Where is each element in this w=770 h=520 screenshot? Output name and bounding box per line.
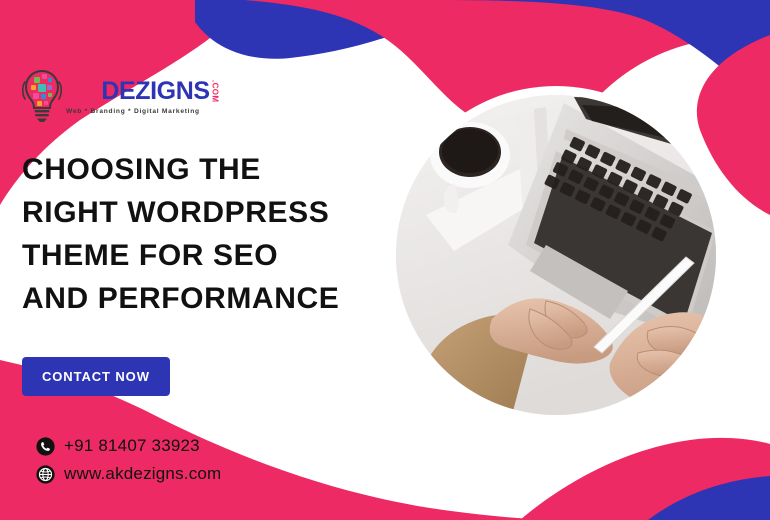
headline-line-3: THEME FOR SEO bbox=[22, 234, 382, 277]
contact-website-row[interactable]: www.akdezigns.com bbox=[36, 460, 221, 488]
lightbulb-pixels-icon bbox=[22, 68, 62, 124]
headline-line-4: AND PERFORMANCE bbox=[22, 277, 382, 320]
contact-website-text: www.akdezigns.com bbox=[64, 464, 221, 484]
contact-phone-row[interactable]: +91 81407 33923 bbox=[36, 432, 221, 460]
contact-now-button[interactable]: CONTACT NOW bbox=[22, 357, 170, 396]
laptop-hands-photo-icon bbox=[396, 95, 716, 415]
hero-photo bbox=[396, 95, 716, 415]
logo-tagline: Web * Branding * Digital Marketing bbox=[66, 108, 219, 115]
headline-line-2: RIGHT WORDPRESS bbox=[22, 191, 382, 234]
logo-wordmark: AK DEZIGNS .COM Web * Branding * Digital… bbox=[66, 68, 219, 115]
shape-right-pink bbox=[697, 35, 770, 215]
contact-info: +91 81407 33923 www.akdezigns.com bbox=[36, 432, 221, 488]
logo-word-row: AK DEZIGNS .COM bbox=[66, 79, 219, 104]
page-title: CHOOSING THE RIGHT WORDPRESS THEME FOR S… bbox=[22, 148, 382, 320]
logo-dezigns-text: DEZIGNS bbox=[101, 79, 209, 104]
globe-icon bbox=[36, 465, 55, 484]
logo-ak-text: AK bbox=[66, 79, 101, 104]
marketing-banner: AK DEZIGNS .COM Web * Branding * Digital… bbox=[0, 0, 770, 520]
logo-com-text: .COM bbox=[211, 80, 219, 103]
headline-line-1: CHOOSING THE bbox=[22, 148, 382, 191]
phone-icon bbox=[36, 437, 55, 456]
brand-logo[interactable]: AK DEZIGNS .COM Web * Branding * Digital… bbox=[22, 68, 219, 124]
contact-phone-text: +91 81407 33923 bbox=[64, 436, 200, 456]
